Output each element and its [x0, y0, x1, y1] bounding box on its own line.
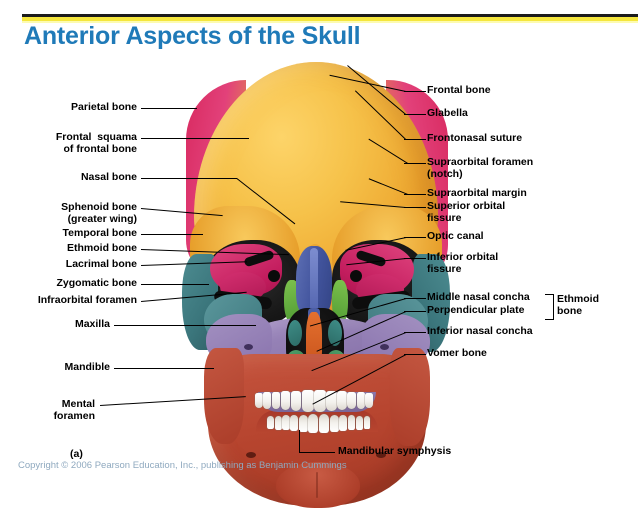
tooth-lower: [299, 415, 308, 432]
tooth-upper: [302, 390, 314, 411]
leader-vomer-bone-a: [404, 354, 426, 355]
label-ethmoid-bone-bracket-line2: bone: [557, 306, 582, 318]
leader-frontal-bone-a: [404, 91, 426, 92]
label-maxilla: Maxilla: [0, 319, 110, 331]
label-glabella: Glabella: [427, 108, 468, 120]
label-supraorbital-foramen-line2: (notch): [427, 169, 463, 181]
label-parietal-bone: Parietal bone: [0, 102, 137, 114]
figure-caption: (a): [70, 448, 83, 460]
label-vomer-bone: Vomer bone: [427, 348, 487, 360]
tooth-upper: [281, 391, 291, 410]
tooth-upper: [365, 393, 373, 408]
tooth-upper: [263, 392, 271, 408]
leader-optic-canal-a: [404, 237, 426, 238]
tooth-lower: [330, 415, 339, 432]
tooth-upper: [357, 392, 365, 408]
copyright-notice: Copyright © 2006 Pearson Education, Inc.…: [18, 460, 347, 471]
tooth-lower: [282, 415, 290, 430]
leader-nasal-bone-a: [141, 178, 237, 179]
label-inferior-nasal-concha: Inferior nasal concha: [427, 326, 533, 338]
label-frontal-squama-line2: of frontal bone: [0, 144, 137, 156]
leader-frontonasal-suture-a: [404, 139, 426, 140]
label-mandible: Mandible: [0, 362, 110, 374]
leader-glabella-a: [404, 114, 426, 115]
optic-canal-right: [350, 270, 362, 282]
label-ethmoid-bone-bracket-line1: Ethmoid: [557, 294, 599, 306]
tooth-lower: [319, 414, 329, 432]
label-supraorbital-foramen-line1: Supraorbital foramen: [427, 157, 533, 169]
slide-canvas: Anterior Aspects of the Skull: [0, 0, 638, 479]
label-infraorbital-foramen: Infraorbital foramen: [0, 295, 137, 307]
infraorbital-foramen-right: [380, 344, 389, 350]
tooth-upper: [272, 392, 281, 410]
leader-mandible: [114, 368, 214, 369]
label-optic-canal: Optic canal: [427, 231, 484, 243]
tooth-upper: [337, 391, 347, 410]
label-sphenoid-bone-line2: (greater wing): [0, 214, 137, 226]
label-mental-foramen-line2: foramen: [0, 411, 95, 423]
label-inferior-orbital-fissure-line2: fissure: [427, 264, 461, 276]
ethmoid-bone-bracket: [545, 294, 554, 320]
label-perpendicular-plate: Perpendicular plate: [427, 305, 524, 317]
tooth-lower: [290, 415, 298, 431]
leader-inferior-nasal-concha-a: [404, 332, 426, 333]
leader-inferior-orbital-fissure-a: [404, 258, 426, 259]
label-inferior-orbital-fissure-line1: Inferior orbital: [427, 252, 498, 264]
tooth-lower: [348, 415, 356, 430]
label-superior-orbital-fissure-line2: fissure: [427, 213, 461, 225]
tooth-upper: [255, 393, 263, 408]
tooth-lower: [308, 414, 318, 432]
label-middle-nasal-concha: Middle nasal concha: [427, 292, 530, 304]
label-temporal-bone: Temporal bone: [0, 228, 137, 240]
label-mandibular-symphysis: Mandibular symphysis: [338, 446, 451, 458]
label-ethmoid-bone: Ethmoid bone: [0, 243, 137, 255]
leader-parietal-bone: [141, 108, 197, 109]
teeth: [254, 388, 380, 444]
leader-zygomatic-bone: [141, 284, 209, 285]
leader-mandibular-symphysis: [299, 452, 335, 453]
leader-middle-nasal-concha-a: [404, 298, 426, 299]
optic-canal-left: [268, 270, 280, 282]
middle-nasal-concha-left: [288, 320, 302, 346]
tooth-lower: [364, 416, 371, 429]
leader-frontal-squama: [141, 138, 249, 139]
tooth-upper: [291, 391, 302, 411]
label-lacrimal-bone: Lacrimal bone: [0, 259, 137, 271]
leader-temporal-bone: [141, 234, 203, 235]
infraorbital-foramen-left: [244, 344, 253, 350]
leader-perpendicular-plate-a: [404, 311, 426, 312]
tooth-lower: [275, 416, 282, 430]
label-supraorbital-margin: Supraorbital margin: [427, 188, 527, 200]
mental-foramen-left: [246, 452, 256, 458]
tooth-lower: [339, 415, 347, 431]
label-zygomatic-bone: Zygomatic bone: [0, 278, 137, 290]
page-title: Anterior Aspects of the Skull: [24, 22, 360, 51]
tooth-lower: [267, 416, 274, 429]
mandibular-symphysis: [316, 472, 318, 498]
leader-superior-orbital-fissure-a: [404, 207, 426, 208]
label-frontonasal-suture: Frontonasal suture: [427, 133, 522, 145]
label-superior-orbital-fissure-line1: Superior orbital: [427, 201, 505, 213]
leader-maxilla: [114, 325, 256, 326]
mandibular-ramus-right: [390, 348, 430, 446]
label-sphenoid-bone-line1: Sphenoid bone: [0, 202, 137, 214]
tooth-upper: [347, 392, 356, 410]
skull-illustration: [180, 58, 452, 452]
label-mental-foramen-line1: Mental: [0, 399, 95, 411]
tooth-lower: [356, 416, 363, 430]
leader-mandibular-symphysis-vertical: [299, 430, 300, 452]
label-frontal-squama-line1: Frontal squama: [0, 132, 137, 144]
label-frontal-bone: Frontal bone: [427, 85, 491, 97]
label-nasal-bone: Nasal bone: [0, 172, 137, 184]
